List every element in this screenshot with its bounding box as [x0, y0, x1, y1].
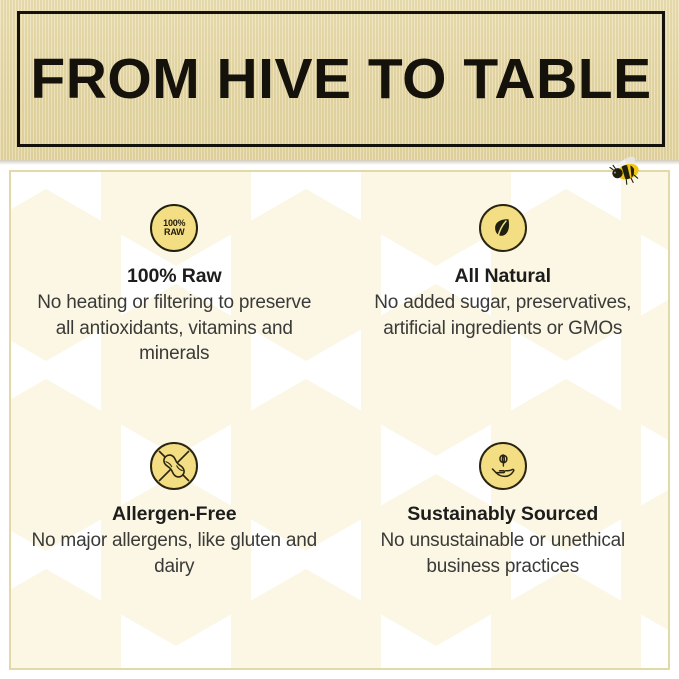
feature-description: No heating or filtering to preserve all …: [29, 290, 320, 366]
no-peanut-icon-glyph: [152, 444, 196, 488]
no-peanut-icon: [150, 442, 198, 490]
feature-description: No added sugar, preservatives, artificia…: [360, 290, 647, 341]
feature-item-raw: 100% RAW 100% Raw No heating or filterin…: [11, 172, 340, 420]
feature-title: Allergen-Free: [112, 504, 236, 525]
leaf-icon-glyph: [489, 214, 517, 242]
feature-item-natural: All Natural No added sugar, preservative…: [340, 172, 669, 420]
feature-title: All Natural: [455, 266, 551, 287]
page-title: FROM HIVE TO TABLE: [30, 51, 651, 108]
feature-item-allergen-free: Allergen-Free No major allergens, like g…: [11, 420, 340, 668]
hand-holding-leaves-icon-glyph: [487, 450, 519, 482]
feature-description: No major allergens, like gluten and dair…: [29, 528, 320, 579]
features-panel: 100% RAW 100% Raw No heating or filterin…: [9, 170, 670, 670]
raw-badge-icon: 100% RAW: [150, 204, 198, 252]
feature-description: No unsustainable or unethical business p…: [360, 528, 647, 579]
feature-item-sustainable: Sustainably Sourced No unsustainable or …: [340, 420, 669, 668]
infographic-page: FROM HIVE TO TABLE: [0, 0, 679, 679]
features-grid: 100% RAW 100% Raw No heating or filterin…: [11, 172, 668, 668]
banner-frame: FROM HIVE TO TABLE: [17, 11, 665, 147]
raw-badge-line2: RAW: [164, 227, 184, 237]
banner-shadow: [0, 160, 679, 165]
feature-title: 100% Raw: [127, 266, 222, 287]
hand-holding-leaves-icon: [479, 442, 527, 490]
bumblebee-icon: [607, 155, 647, 189]
header-banner: FROM HIVE TO TABLE: [0, 0, 679, 160]
feature-title: Sustainably Sourced: [407, 504, 598, 525]
raw-badge-label: 100% RAW: [163, 219, 185, 238]
leaf-icon: [479, 204, 527, 252]
raw-badge-line1: 100%: [163, 218, 185, 228]
